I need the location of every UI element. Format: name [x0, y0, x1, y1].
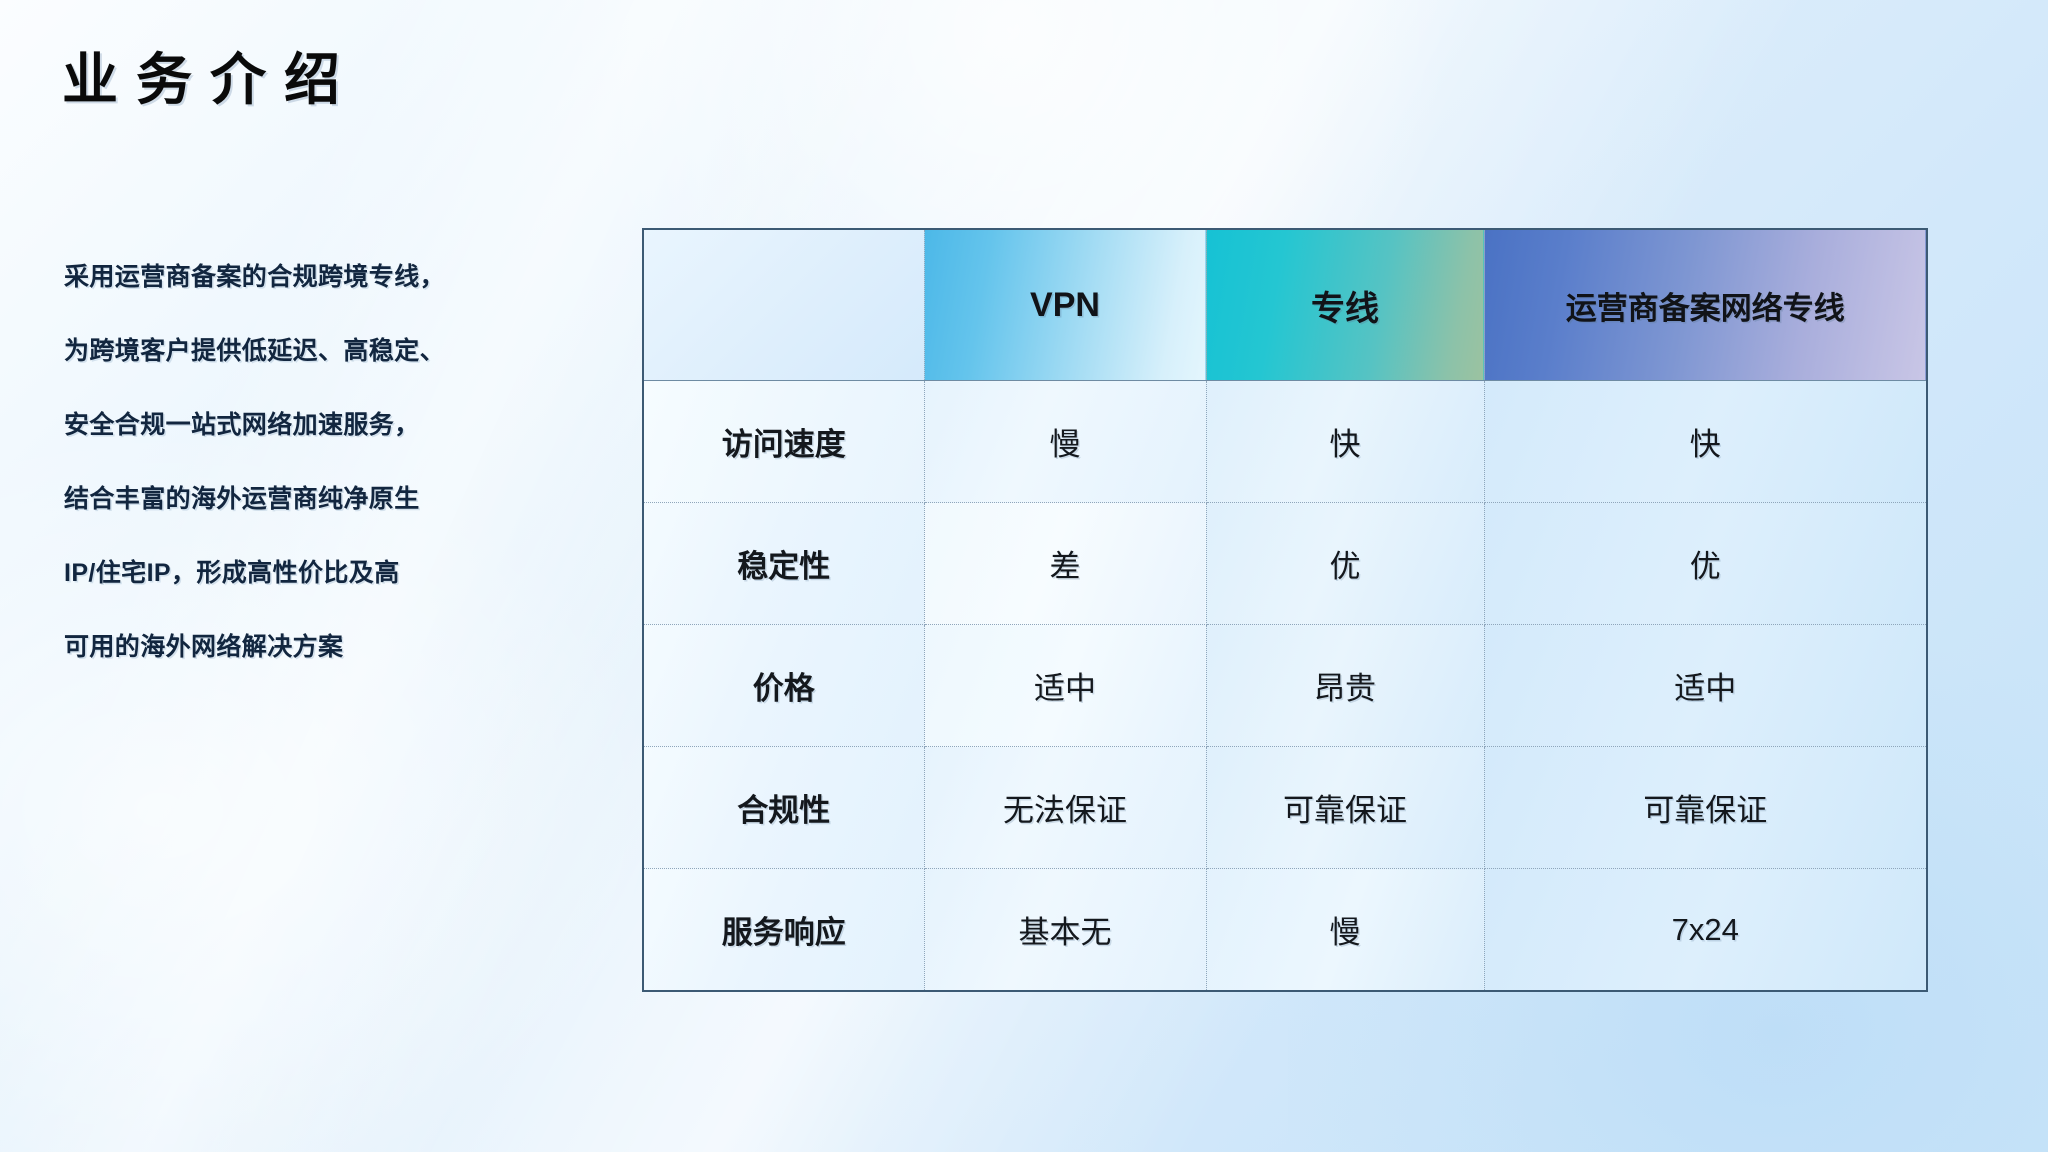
intro-line: 可用的海外网络解决方案	[64, 610, 484, 684]
row-label: 服务响应	[644, 869, 924, 991]
row-label: 稳定性	[644, 503, 924, 625]
table-cell: 可靠保证	[1206, 747, 1484, 869]
comparison-table: VPN 专线 运营商备案网络专线 访问速度 慢 快 快 稳定性 差 优 优 价格…	[644, 230, 1926, 990]
table-cell: 差	[924, 503, 1206, 625]
intro-line: 为跨境客户提供低延迟、高稳定、	[64, 314, 484, 388]
table-cell: 慢	[924, 381, 1206, 503]
row-label: 合规性	[644, 747, 924, 869]
header-cell-vpn: VPN	[924, 230, 1206, 381]
intro-line: 结合丰富的海外运营商纯净原生	[64, 462, 484, 536]
table-body: 访问速度 慢 快 快 稳定性 差 优 优 价格 适中 昂贵 适中 合规性 无法保…	[644, 381, 1926, 991]
header-cell-operator-network: 运营商备案网络专线	[1484, 230, 1926, 381]
intro-paragraph: 采用运营商备案的合规跨境专线， 为跨境客户提供低延迟、高稳定、 安全合规一站式网…	[64, 240, 484, 684]
intro-line: IP/住宅IP，形成高性价比及高	[64, 536, 484, 610]
table-row: 合规性 无法保证 可靠保证 可靠保证	[644, 747, 1926, 869]
table-row: 价格 适中 昂贵 适中	[644, 625, 1926, 747]
table-row: 服务响应 基本无 慢 7x24	[644, 869, 1926, 991]
table-cell: 基本无	[924, 869, 1206, 991]
table-cell: 优	[1484, 503, 1926, 625]
row-label: 价格	[644, 625, 924, 747]
table-header: VPN 专线 运营商备案网络专线	[644, 230, 1926, 381]
table-cell: 快	[1206, 381, 1484, 503]
page-title: 业务介绍	[62, 52, 358, 108]
table-cell: 适中	[1484, 625, 1926, 747]
row-label: 访问速度	[644, 381, 924, 503]
table-cell: 可靠保证	[1484, 747, 1926, 869]
intro-line: 采用运营商备案的合规跨境专线，	[64, 240, 484, 314]
table-cell: 优	[1206, 503, 1484, 625]
table-cell: 慢	[1206, 869, 1484, 991]
header-cell-blank	[644, 230, 924, 381]
table-row: 稳定性 差 优 优	[644, 503, 1926, 625]
slide-canvas: 业务介绍 采用运营商备案的合规跨境专线， 为跨境客户提供低延迟、高稳定、 安全合…	[0, 0, 2048, 1152]
table-cell: 7x24	[1484, 869, 1926, 991]
table-row: 访问速度 慢 快 快	[644, 381, 1926, 503]
table-cell: 适中	[924, 625, 1206, 747]
table-header-row: VPN 专线 运营商备案网络专线	[644, 230, 1926, 381]
table-cell: 无法保证	[924, 747, 1206, 869]
header-cell-dedicated-line: 专线	[1206, 230, 1484, 381]
table-cell: 快	[1484, 381, 1926, 503]
intro-line: 安全合规一站式网络加速服务，	[64, 388, 484, 462]
table-cell: 昂贵	[1206, 625, 1484, 747]
